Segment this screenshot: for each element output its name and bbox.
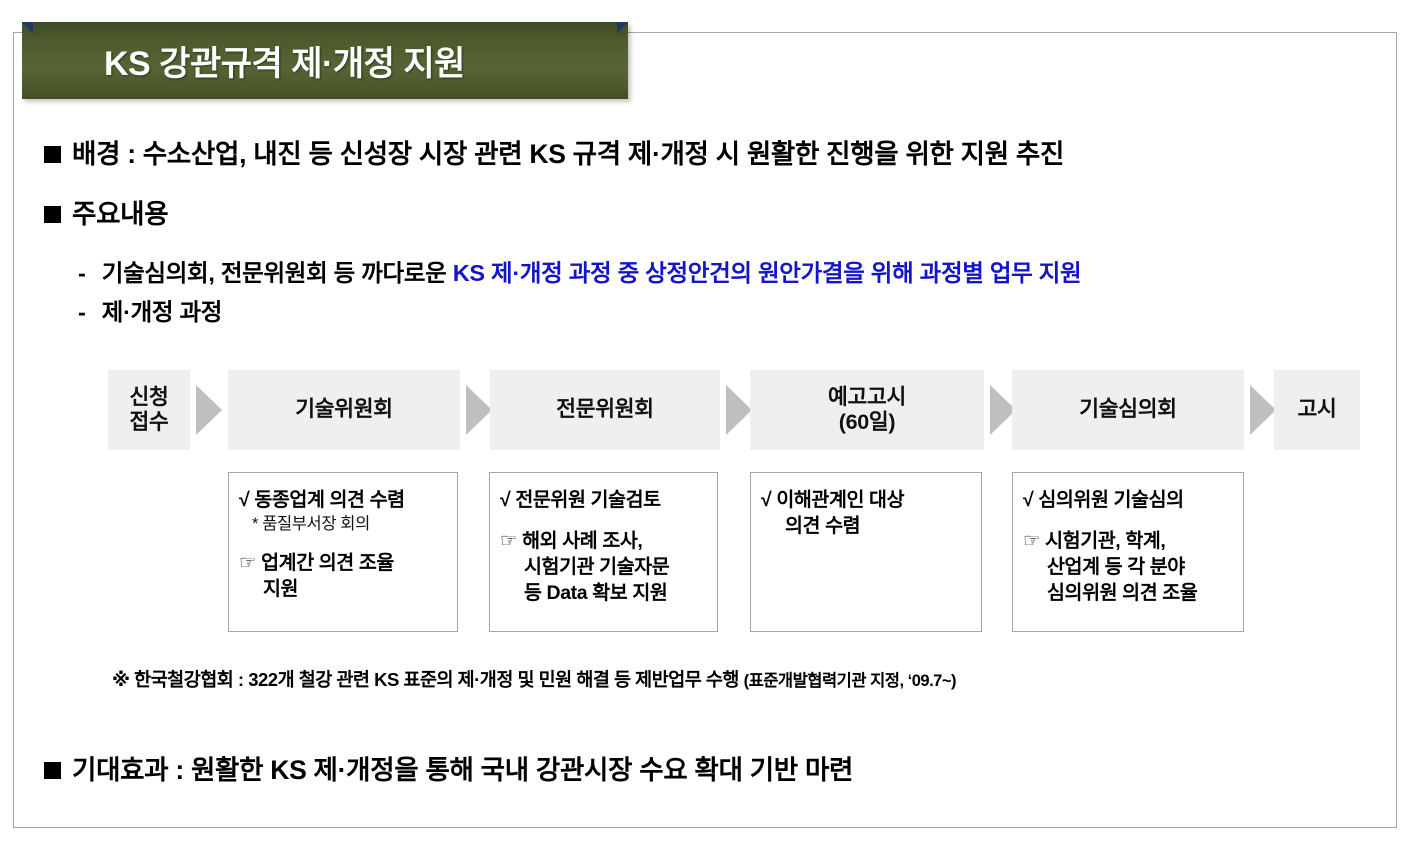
detail-1-hand-text-1: 업계간 의견 조율 xyxy=(261,552,394,574)
flow-step-3-label-line1: 전문위원회 xyxy=(556,397,653,422)
detail-1-hand-line-2: 지원 xyxy=(239,576,449,602)
detail-3-check-text-2: 의견 수렴 xyxy=(761,513,973,539)
detail-4-check-text: 심의위원 기술심의 xyxy=(1038,489,1183,511)
footnote-main-text: 한국철강협회 : 322개 철강 관련 KS 표준의 제·개정 및 민원 해결 … xyxy=(134,669,739,690)
square-bullet-icon xyxy=(44,146,61,163)
main-item-2-plain: 제·개정 과정 xyxy=(92,299,222,325)
flow-step-1[interactable]: 신청 접수 xyxy=(108,370,190,450)
page-title: KS 강관규격 제·개정 지원 xyxy=(22,36,465,85)
footnote: ※ 한국철강협회 : 322개 철강 관련 KS 표준의 제·개정 및 민원 해… xyxy=(112,666,956,692)
flow-step-4-label-line2: (60일) xyxy=(839,410,896,435)
detail-1-check-line: √ 동종업계 의견 수렴 xyxy=(239,487,449,513)
reference-mark-icon: ※ xyxy=(112,669,130,690)
detail-1-sub-text: 품질부서장 회의 xyxy=(262,515,370,533)
flow-arrow-2-icon xyxy=(466,385,492,435)
detail-4-check-line: √ 심의위원 기술심의 xyxy=(1023,487,1235,513)
flow-step-1-label-line1: 신청 xyxy=(130,385,169,410)
spacer xyxy=(500,513,709,528)
ribbon-fold-right-icon xyxy=(617,22,628,34)
detail-2-hand-line-3: 등 Data 확보 지원 xyxy=(500,580,709,606)
flow-step-2[interactable]: 기술위원회 xyxy=(228,370,460,450)
ribbon-fold-left-icon xyxy=(22,22,33,34)
flow-arrow-1-icon xyxy=(196,385,222,435)
main-item-1-highlight: KS 제·개정 과정 중 상정안건의 원안가결을 위해 과정별 업무 지원 xyxy=(453,260,1082,286)
spacer xyxy=(239,535,449,550)
detail-2-check-line: √ 전문위원 기술검토 xyxy=(500,487,709,513)
flow-step-6-label-line1: 고시 xyxy=(1298,397,1337,422)
check-mark-icon: √ xyxy=(761,489,771,511)
detail-2-hand-line-1: ☞ 해외 사례 조사, xyxy=(500,528,709,554)
main-item-1-dash: - xyxy=(78,260,86,286)
flow-step-6[interactable]: 고시 xyxy=(1274,370,1360,450)
asterisk-icon: * xyxy=(252,515,258,533)
detail-2-hand-text-1: 해외 사례 조사, xyxy=(522,530,642,552)
main-item-2: - 제·개정 과정 xyxy=(78,293,222,327)
title-banner: KS 강관규격 제·개정 지원 xyxy=(22,22,628,99)
flow-step-2-label-line1: 기술위원회 xyxy=(295,397,392,422)
expected-effect-line: 기대효과 : 원활한 KS 제·개정을 통해 국내 강관시장 수요 확대 기반 … xyxy=(44,748,853,787)
background-bullet-line: 배경 : 수소산업, 내진 등 신성장 시장 관련 KS 규격 제·개정 시 원… xyxy=(44,132,1064,171)
main-content-heading: 주요내용 xyxy=(72,192,168,231)
detail-4-hand-line-2: 산업계 등 각 분야 xyxy=(1023,554,1235,580)
detail-1-sub-line: * 품질부서장 회의 xyxy=(239,513,449,535)
flow-arrow-5-icon xyxy=(1250,385,1276,435)
expected-effect-text: 기대효과 : 원활한 KS 제·개정을 통해 국내 강관시장 수요 확대 기반 … xyxy=(72,748,853,787)
detail-3-check-text: 이해관계인 대상 xyxy=(776,489,904,511)
main-item-2-dash: - xyxy=(78,299,86,325)
pointing-hand-icon: ☞ xyxy=(500,530,517,552)
detail-3-check-line: √ 이해관계인 대상 xyxy=(761,487,973,513)
detail-box-3: √ 이해관계인 대상 의견 수렴 xyxy=(750,472,982,632)
main-item-1: - 기술심의회, 전문위원회 등 까다로운 KS 제·개정 과정 중 상정안건의… xyxy=(78,254,1081,288)
detail-4-hand-text-1: 시험기관, 학계, xyxy=(1045,530,1165,552)
flow-step-4[interactable]: 예고고시 (60일) xyxy=(750,370,984,450)
background-text: 배경 : 수소산업, 내진 등 신성장 시장 관련 KS 규격 제·개정 시 원… xyxy=(72,132,1064,171)
detail-box-1: √ 동종업계 의견 수렴 * 품질부서장 회의 ☞ 업계간 의견 조율 지원 xyxy=(228,472,458,632)
footnote-paren-text: (표준개발협력기관 지정, ‘09.7~) xyxy=(744,672,956,690)
slide-canvas: KS 강관규격 제·개정 지원 배경 : 수소산업, 내진 등 신성장 시장 관… xyxy=(0,0,1409,861)
detail-2-hand-line-2: 시험기관 기술자문 xyxy=(500,554,709,580)
square-bullet-icon xyxy=(44,762,61,779)
detail-4-hand-line-3: 심의위원 의견 조율 xyxy=(1023,580,1235,606)
flow-step-4-label-line1: 예고고시 xyxy=(828,385,906,410)
main-content-heading-line: 주요내용 xyxy=(44,192,168,231)
pointing-hand-icon: ☞ xyxy=(1023,530,1040,552)
check-mark-icon: √ xyxy=(500,489,510,511)
detail-1-check-text: 동종업계 의견 수렴 xyxy=(254,489,404,511)
pointing-hand-icon: ☞ xyxy=(239,552,256,574)
detail-4-hand-line-1: ☞ 시험기관, 학계, xyxy=(1023,528,1235,554)
check-mark-icon: √ xyxy=(1023,489,1033,511)
detail-2-check-text: 전문위원 기술검토 xyxy=(515,489,660,511)
flow-step-3[interactable]: 전문위원회 xyxy=(490,370,720,450)
detail-box-2: √ 전문위원 기술검토 ☞ 해외 사례 조사, 시험기관 기술자문 등 Data… xyxy=(489,472,718,632)
detail-box-4: √ 심의위원 기술심의 ☞ 시험기관, 학계, 산업계 등 각 분야 심의위원 … xyxy=(1012,472,1244,632)
square-bullet-icon xyxy=(44,206,61,223)
flow-step-5-label-line1: 기술심의회 xyxy=(1079,397,1176,422)
detail-1-hand-line-1: ☞ 업계간 의견 조율 xyxy=(239,550,449,576)
check-mark-icon: √ xyxy=(239,489,249,511)
spacer xyxy=(1023,513,1235,528)
main-item-1-plain: 기술심의회, 전문위원회 등 까다로운 xyxy=(92,260,453,286)
flow-step-5[interactable]: 기술심의회 xyxy=(1012,370,1244,450)
flow-arrow-3-icon xyxy=(726,385,752,435)
flow-step-1-label-line2: 접수 xyxy=(130,410,169,435)
